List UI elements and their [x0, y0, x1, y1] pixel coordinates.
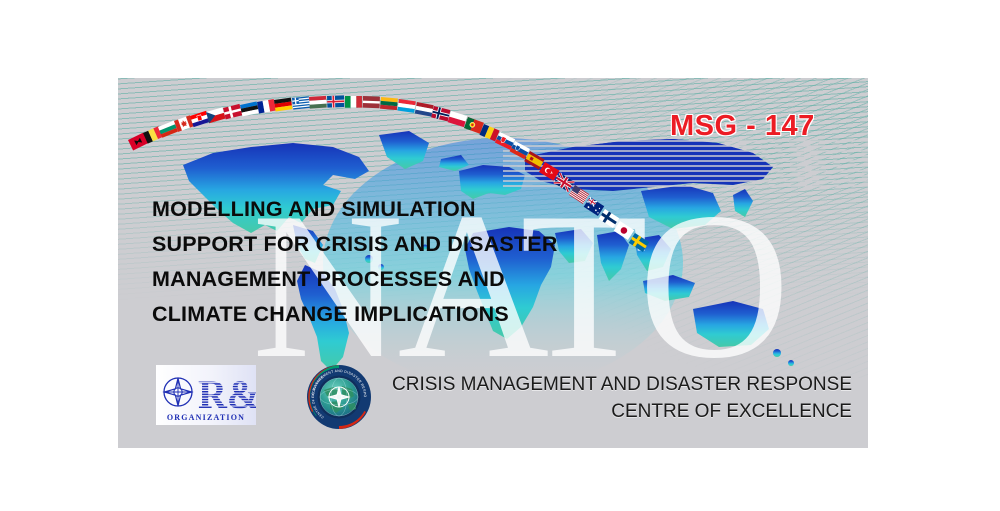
- cmdr-coe-seal: CRISIS MANAGEMENT AND DISASTER RESPONSE …: [306, 364, 372, 430]
- title-slide: NATO: [118, 78, 868, 448]
- title-line-2: SUPPORT FOR CRISIS AND DISASTER: [152, 227, 622, 262]
- coe-organisation-name: CRISIS MANAGEMENT AND DISASTER RESPONSE …: [382, 371, 852, 425]
- project-code-badge: MSG - 147: [670, 110, 815, 143]
- rto-monogram: R&T: [198, 372, 256, 417]
- title-line-1: MODELLING AND SIMULATION: [152, 192, 622, 227]
- coe-name-line-1: CRISIS MANAGEMENT AND DISASTER RESPONSE: [382, 371, 852, 398]
- slide-canvas: NATO: [0, 0, 1000, 511]
- rto-subtitle: ORGANIZATION: [167, 413, 245, 422]
- title-line-3: MANAGEMENT PROCESSES AND: [152, 262, 622, 297]
- coe-name-line-2: CENTRE OF EXCELLENCE: [382, 398, 852, 425]
- slide-footer: R&T ORGANIZATION: [156, 363, 856, 433]
- title-line-4: CLIMATE CHANGE IMPLICATIONS: [152, 297, 622, 332]
- nato-rto-logo: R&T ORGANIZATION: [156, 365, 256, 425]
- slide-title: MODELLING AND SIMULATION SUPPORT FOR CRI…: [152, 192, 622, 332]
